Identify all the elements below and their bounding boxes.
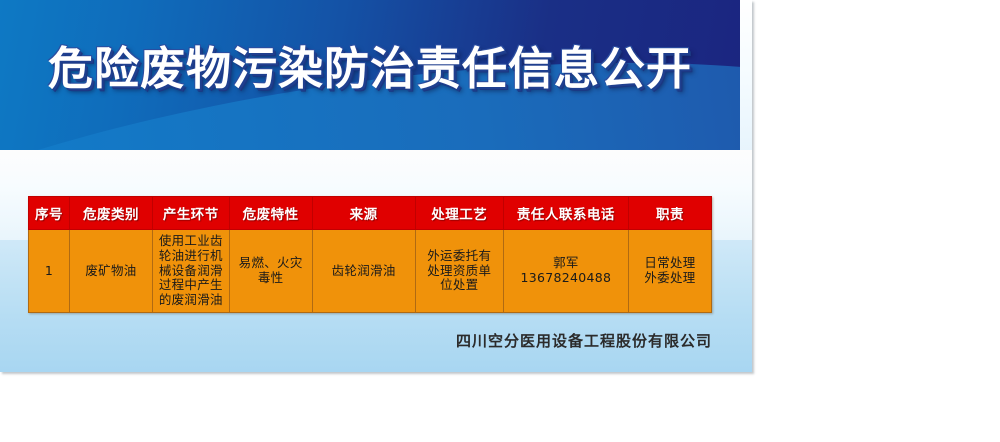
column-header-stage: 产生环节 <box>152 197 229 230</box>
cell-property-line: 易燃、火灾 <box>233 256 309 271</box>
information-board: 危险废物污染防治责任信息公开 序号 危废类别 产生环节 危废特性 来源 处理工艺… <box>0 0 752 372</box>
company-name: 四川空分医用设备工程股份有限公司 <box>0 330 712 351</box>
cell-duty-line: 日常处理 <box>632 256 708 271</box>
contact-person-phone: 13678240488 <box>507 271 625 286</box>
table-body: 1 废矿物油 使用工业齿 轮油进行机 械设备润滑 过程中产生 的废润滑油 易燃、… <box>29 230 712 313</box>
column-header-index: 序号 <box>29 197 70 230</box>
table-row: 1 废矿物油 使用工业齿 轮油进行机 械设备润滑 过程中产生 的废润滑油 易燃、… <box>29 230 712 313</box>
cell-contact: 郭军 13678240488 <box>503 230 628 313</box>
table-header-row: 序号 危废类别 产生环节 危废特性 来源 处理工艺 责任人联系电话 职责 <box>29 197 712 230</box>
column-header-source: 来源 <box>312 197 415 230</box>
cell-property-line: 毒性 <box>233 271 309 286</box>
cell-source: 齿轮润滑油 <box>312 230 415 313</box>
cell-process-line: 外运委托有 <box>419 249 500 264</box>
table-header: 序号 危废类别 产生环节 危废特性 来源 处理工艺 责任人联系电话 职责 <box>29 197 712 230</box>
cell-duty: 日常处理 外委处理 <box>628 230 711 313</box>
column-header-category: 危废类别 <box>69 197 152 230</box>
contact-person-name: 郭军 <box>507 256 625 271</box>
cell-index: 1 <box>29 230 70 313</box>
page-title: 危险废物污染防治责任信息公开 <box>0 46 740 91</box>
column-header-duty: 职责 <box>628 197 711 230</box>
banner-header: 危险废物污染防治责任信息公开 <box>0 0 740 152</box>
hazardous-waste-table: 序号 危废类别 产生环节 危废特性 来源 处理工艺 责任人联系电话 职责 1 废… <box>28 196 712 313</box>
cell-property: 易燃、火灾 毒性 <box>229 230 312 313</box>
cell-stage-line: 使用工业齿 <box>156 234 226 249</box>
cell-stage-line: 过程中产生 <box>156 278 226 293</box>
cell-process-line: 位处置 <box>419 278 500 293</box>
cell-duty-line: 外委处理 <box>632 271 708 286</box>
cell-category: 废矿物油 <box>69 230 152 313</box>
cell-stage-line: 轮油进行机 <box>156 249 226 264</box>
cell-process-line: 处理资质单 <box>419 264 500 279</box>
column-header-property: 危废特性 <box>229 197 312 230</box>
cell-stage-line: 的废润滑油 <box>156 293 226 308</box>
column-header-process: 处理工艺 <box>415 197 503 230</box>
cell-stage-line: 械设备润滑 <box>156 264 226 279</box>
cell-stage: 使用工业齿 轮油进行机 械设备润滑 过程中产生 的废润滑油 <box>152 230 229 313</box>
cell-process: 外运委托有 处理资质单 位处置 <box>415 230 503 313</box>
column-header-contact: 责任人联系电话 <box>503 197 628 230</box>
